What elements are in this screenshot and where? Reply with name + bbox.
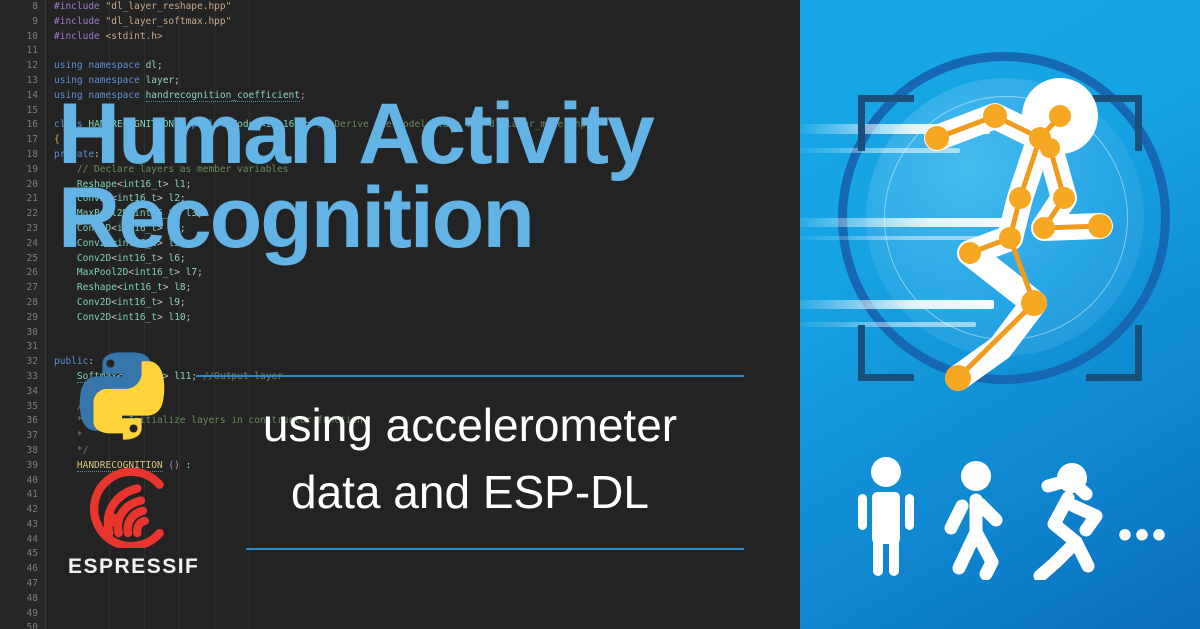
line-number: 28: [0, 296, 45, 311]
line-number: 40: [0, 474, 45, 489]
line-number: 12: [0, 59, 45, 74]
line-number: 16: [0, 118, 45, 133]
code-line: {: [46, 133, 800, 148]
running-person-icon: [1040, 480, 1096, 576]
espressif-wordmark: ESPRESSIF: [68, 555, 188, 579]
line-number: 39: [0, 459, 45, 474]
code-line: [46, 577, 800, 592]
code-line: [46, 44, 800, 59]
line-number: 38: [0, 444, 45, 459]
line-number: 36: [0, 414, 45, 429]
code-line: Conv2D<int16_t> l10;: [46, 311, 800, 326]
espressif-mark-icon: [81, 468, 175, 548]
code-line: */: [46, 444, 800, 459]
code-line: using namespace layer;: [46, 74, 800, 89]
code-line: // Declare layers as member variables: [46, 163, 800, 178]
editor-line-number-gutter: 8910111213141516171819202122232425262728…: [0, 0, 46, 629]
code-line: Conv2D<int16_t> l4;: [46, 222, 800, 237]
line-number: 37: [0, 429, 45, 444]
line-number: 46: [0, 562, 45, 577]
line-number: 21: [0, 192, 45, 207]
line-number: 33: [0, 370, 45, 385]
line-number: 45: [0, 547, 45, 562]
line-number: 29: [0, 311, 45, 326]
line-number: 31: [0, 340, 45, 355]
code-line: Conv2D<int16_t> l2;: [46, 192, 800, 207]
line-number: 26: [0, 266, 45, 281]
code-line: class HANDRECOGNITION : public Model<int…: [46, 118, 800, 133]
article-banner: 8910111213141516171819202122232425262728…: [0, 0, 1200, 629]
illustration-panel: •••: [800, 0, 1200, 629]
code-line: Conv2D<int16_t> l9;: [46, 296, 800, 311]
line-number: 32: [0, 355, 45, 370]
line-number: 18: [0, 148, 45, 163]
line-number: 35: [0, 400, 45, 415]
code-line: #include "dl_layer_reshape.hpp": [46, 0, 800, 15]
walking-person-head: [961, 461, 991, 491]
line-number: 22: [0, 207, 45, 222]
line-number: 47: [0, 577, 45, 592]
python-logo: [73, 347, 171, 445]
running-human-pose-icon: [892, 48, 1192, 398]
line-number: 27: [0, 281, 45, 296]
more-activities-ellipsis: •••: [1118, 515, 1169, 555]
line-number: 10: [0, 30, 45, 45]
line-number: 19: [0, 163, 45, 178]
line-number: 25: [0, 252, 45, 267]
code-line: using namespace dl;: [46, 59, 800, 74]
line-number: 24: [0, 237, 45, 252]
line-number: 48: [0, 592, 45, 607]
code-line: Reshape<int16_t> l1;: [46, 178, 800, 193]
line-number: 11: [0, 44, 45, 59]
code-line: [46, 326, 800, 341]
espressif-logo: ESPRESSIF: [68, 468, 188, 578]
code-line: private:: [46, 148, 800, 163]
code-line: MaxPool2D<int16_t> l3;: [46, 207, 800, 222]
line-number: 9: [0, 15, 45, 30]
line-number: 43: [0, 518, 45, 533]
code-line: MaxPool2D<int16_t> l7;: [46, 266, 800, 281]
line-number: 30: [0, 326, 45, 341]
line-number: 17: [0, 133, 45, 148]
code-line: [46, 592, 800, 607]
line-number: 23: [0, 222, 45, 237]
code-line: [46, 621, 800, 629]
line-number: 14: [0, 89, 45, 104]
line-number: 49: [0, 607, 45, 622]
running-person-head: [1057, 463, 1087, 493]
line-number: 20: [0, 178, 45, 193]
line-number: 42: [0, 503, 45, 518]
line-number: 44: [0, 533, 45, 548]
code-line: Conv2D<int16_t> l6;: [46, 252, 800, 267]
line-number: 41: [0, 488, 45, 503]
walking-person-icon: [951, 500, 996, 574]
code-line: [46, 104, 800, 119]
code-line: #include "dl_layer_softmax.hpp": [46, 15, 800, 30]
line-number: 13: [0, 74, 45, 89]
line-number: 50: [0, 621, 45, 629]
code-line: Reshape<int16_t> l8;: [46, 281, 800, 296]
python-icon: [73, 347, 171, 445]
code-line: #include <stdint.h>: [46, 30, 800, 45]
line-number: 15: [0, 104, 45, 119]
code-line: using namespace handrecognition_coeffici…: [46, 89, 800, 104]
standing-person-icon: [858, 457, 914, 576]
code-line: Conv2D<int16_t> l5;: [46, 237, 800, 252]
code-line: [46, 607, 800, 622]
line-number: 34: [0, 385, 45, 400]
line-number: 8: [0, 0, 45, 15]
